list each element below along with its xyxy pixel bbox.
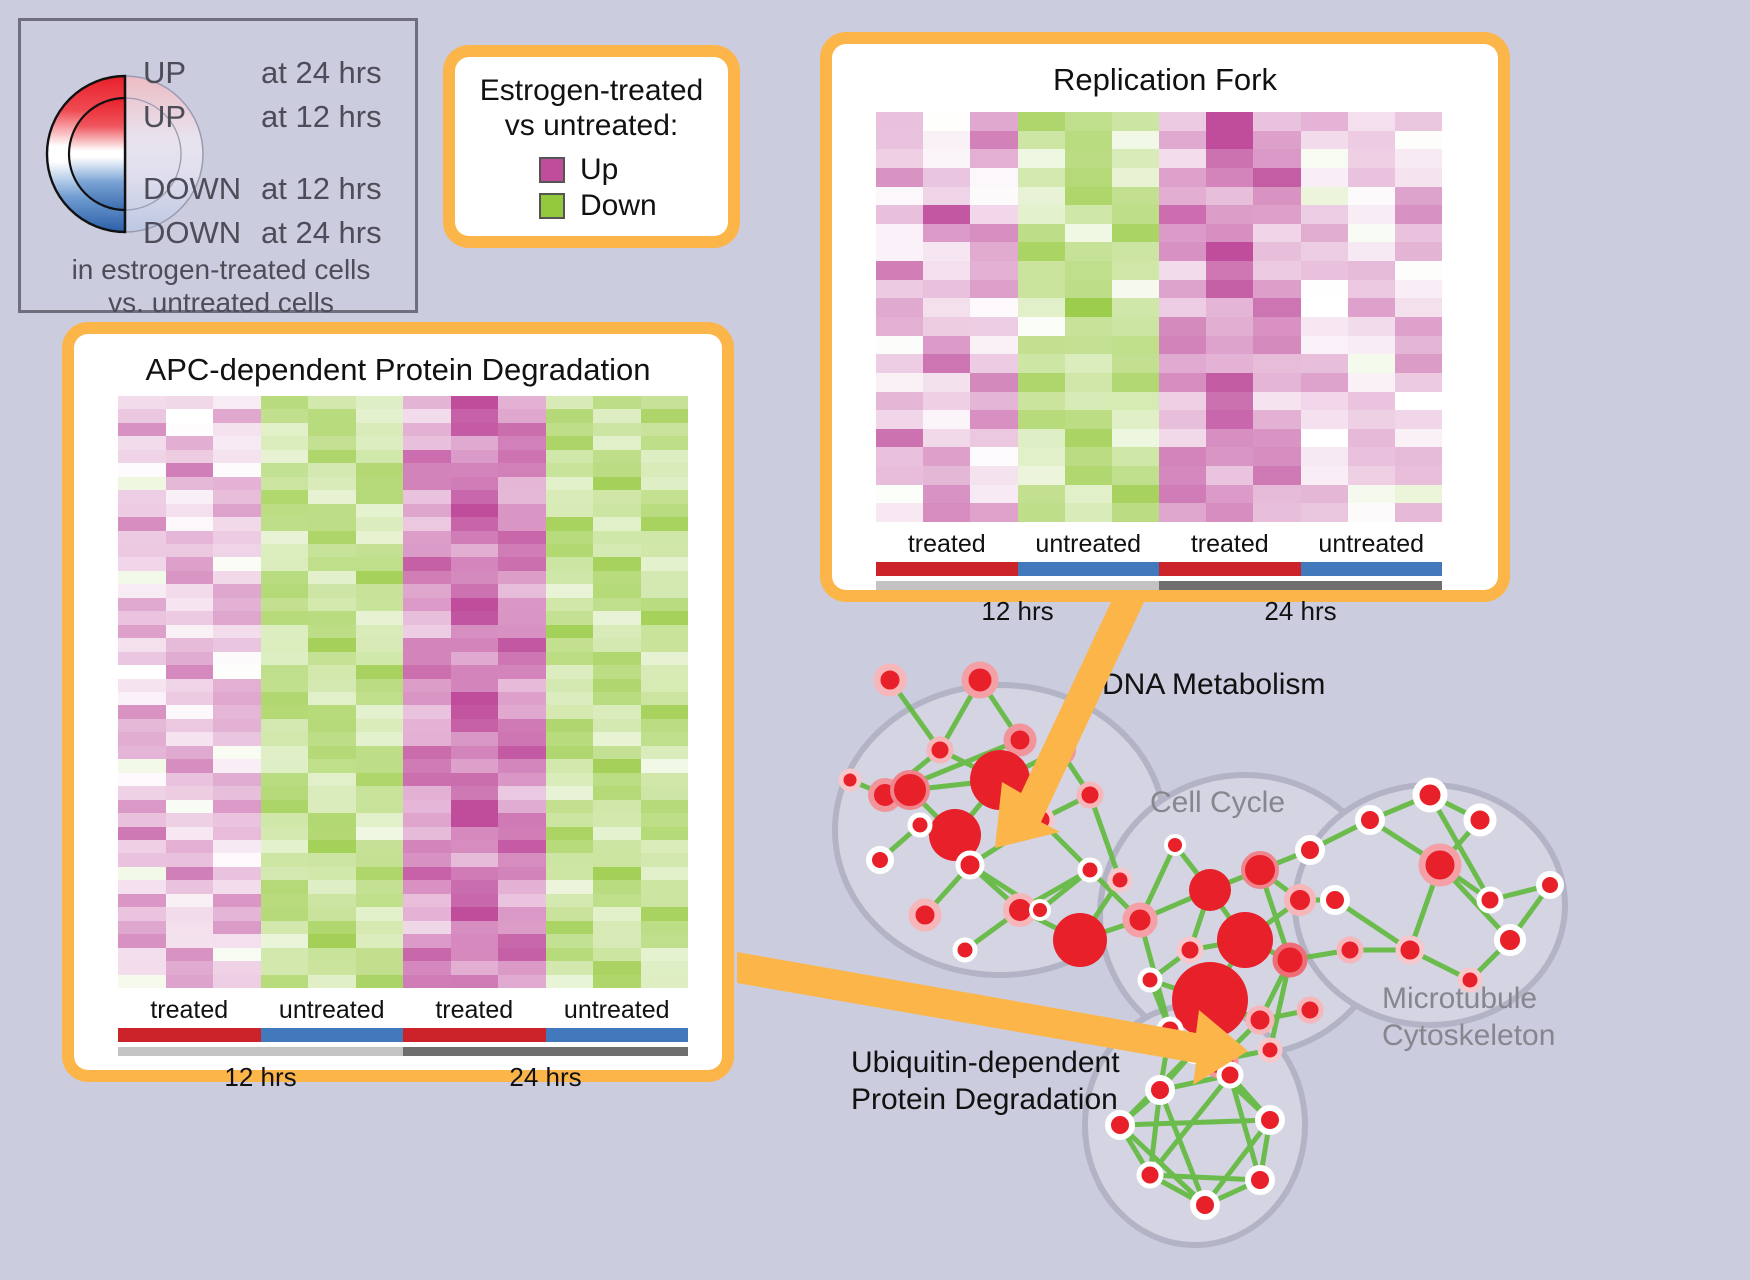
heatmap-cell bbox=[451, 557, 499, 570]
heatmap-cell bbox=[1065, 168, 1112, 187]
heatmap-cell bbox=[403, 396, 451, 409]
heatmap-cell bbox=[1348, 466, 1395, 485]
heatmap-cell bbox=[1253, 373, 1300, 392]
heatmap-cell bbox=[546, 719, 594, 732]
heatmap-cell bbox=[213, 746, 261, 759]
heatmap-cell bbox=[593, 786, 641, 799]
heatmap-cell bbox=[166, 773, 214, 786]
key-timepoint-label: at 12 hrs bbox=[261, 171, 382, 207]
heatmap-cell bbox=[1112, 317, 1159, 336]
heatmap-cell bbox=[118, 840, 166, 853]
heatmap-cell bbox=[546, 732, 594, 745]
heatmap-cell bbox=[641, 975, 689, 988]
heatmap-cell bbox=[593, 652, 641, 665]
heatmap-cell bbox=[213, 611, 261, 624]
heatmap-cell bbox=[641, 517, 689, 530]
heatmap-cell bbox=[1395, 354, 1442, 373]
heatmap-cell bbox=[1159, 336, 1206, 355]
group-label: untreated bbox=[546, 996, 689, 1025]
heatmap-cell bbox=[403, 517, 451, 530]
heatmap-cell bbox=[1018, 466, 1065, 485]
heatmap-cell bbox=[451, 800, 499, 813]
heatmap-cell bbox=[876, 466, 923, 485]
heatmap-cell bbox=[261, 975, 309, 988]
heatmap-cell bbox=[308, 800, 356, 813]
heatmap-cell bbox=[1018, 149, 1065, 168]
heatmap-cell bbox=[166, 705, 214, 718]
up-swatch-icon bbox=[539, 157, 565, 183]
heatmap-cell bbox=[498, 853, 546, 866]
heatmap-cell bbox=[1206, 466, 1253, 485]
heatmap-cell bbox=[1301, 503, 1348, 522]
key-spacer bbox=[143, 139, 418, 167]
heatmap-cell bbox=[1018, 261, 1065, 280]
heatmap-cell bbox=[546, 638, 594, 651]
heatmap-cell bbox=[970, 261, 1017, 280]
heatmap-cell bbox=[213, 827, 261, 840]
heatmap-cell bbox=[166, 409, 214, 422]
heatmap-cell bbox=[308, 638, 356, 651]
heatmap-cell bbox=[923, 503, 970, 522]
key-label-list: UP at 24 hrs UP at 12 hrs DOWN at 12 hrs… bbox=[143, 51, 418, 255]
heatmap-cell bbox=[970, 205, 1017, 224]
key-direction-label: UP bbox=[143, 55, 261, 91]
heatmap-cell bbox=[1159, 485, 1206, 504]
heatmap-cell bbox=[641, 598, 689, 611]
heatmap-cell bbox=[641, 894, 689, 907]
heatmap-cell bbox=[1301, 131, 1348, 150]
heatmap-cell bbox=[166, 921, 214, 934]
heatmap-cell bbox=[451, 746, 499, 759]
heatmap-cell bbox=[593, 598, 641, 611]
heatmap-cell bbox=[1348, 354, 1395, 373]
heatmap-cell bbox=[451, 921, 499, 934]
heatmap-cell bbox=[546, 571, 594, 584]
heatmap-cell bbox=[593, 961, 641, 974]
heatmap-cell bbox=[213, 692, 261, 705]
heatmap-cell bbox=[1348, 336, 1395, 355]
heatmap-cell bbox=[498, 679, 546, 692]
heatmap-cell bbox=[1112, 298, 1159, 317]
key-direction-label: UP bbox=[143, 99, 261, 135]
heatmap-cell bbox=[1206, 261, 1253, 280]
heatmap-cell bbox=[356, 853, 404, 866]
heatmap-cell bbox=[308, 584, 356, 597]
heatmap-cell bbox=[1065, 149, 1112, 168]
heatmap-cell bbox=[1112, 261, 1159, 280]
heatmap-cell bbox=[1018, 131, 1065, 150]
heatmap-cell bbox=[970, 392, 1017, 411]
heatmap-cell bbox=[1395, 447, 1442, 466]
heatmap-cell bbox=[593, 436, 641, 449]
group-label: treated bbox=[118, 996, 261, 1025]
heatmap-cell bbox=[1159, 298, 1206, 317]
heatmap-cell bbox=[593, 396, 641, 409]
heatmap-cell bbox=[308, 813, 356, 826]
heatmap-cell bbox=[261, 396, 309, 409]
heatmap-cell bbox=[166, 907, 214, 920]
heatmap-cell bbox=[356, 679, 404, 692]
heatmap-cell bbox=[118, 504, 166, 517]
heatmap-cell bbox=[498, 827, 546, 840]
heatmap-cell bbox=[118, 827, 166, 840]
heatmap-cell bbox=[593, 463, 641, 476]
heatmap-cell bbox=[166, 692, 214, 705]
heatmap-cell bbox=[593, 504, 641, 517]
heatmap-cell bbox=[166, 665, 214, 678]
heatmap-cell bbox=[356, 800, 404, 813]
heatmap-cell bbox=[308, 759, 356, 772]
heatmap-cell bbox=[546, 611, 594, 624]
heatmap-cell bbox=[261, 477, 309, 490]
heatmap-cell bbox=[166, 853, 214, 866]
replication-fork-title: Replication Fork bbox=[832, 44, 1498, 98]
apc-degradation-title: APC-dependent Protein Degradation bbox=[74, 334, 722, 388]
heatmap-cell bbox=[356, 531, 404, 544]
heatmap-cell bbox=[641, 786, 689, 799]
heatmap-cell bbox=[1301, 187, 1348, 206]
heatmap-cell bbox=[166, 598, 214, 611]
estrogen-legend-inner: Estrogen-treated vs untreated: Up Down bbox=[455, 57, 728, 236]
heatmap-cell bbox=[1348, 242, 1395, 261]
heatmap-cell bbox=[546, 961, 594, 974]
heatmap-cell bbox=[261, 611, 309, 624]
heatmap-cell bbox=[1206, 149, 1253, 168]
heatmap-cell bbox=[213, 759, 261, 772]
heatmap-cell bbox=[261, 948, 309, 961]
heatmap-cell bbox=[356, 880, 404, 893]
heatmap-cell bbox=[1253, 466, 1300, 485]
heatmap-cell bbox=[451, 732, 499, 745]
heatmap-cell bbox=[593, 571, 641, 584]
heatmap-cell bbox=[451, 665, 499, 678]
heatmap-cell bbox=[451, 692, 499, 705]
heatmap-cell bbox=[308, 423, 356, 436]
heatmap-cell bbox=[593, 773, 641, 786]
heatmap-cell bbox=[356, 840, 404, 853]
heatmap-cell bbox=[641, 557, 689, 570]
heatmap-cell bbox=[308, 786, 356, 799]
heatmap-cell bbox=[498, 436, 546, 449]
timepoint-bar-12 bbox=[876, 581, 1159, 590]
heatmap-cell bbox=[641, 827, 689, 840]
heatmap-cell bbox=[593, 423, 641, 436]
heatmap-cell bbox=[118, 948, 166, 961]
heatmap-cell bbox=[261, 732, 309, 745]
heatmap-cell bbox=[451, 517, 499, 530]
heatmap-cell bbox=[308, 625, 356, 638]
function-network-diagram bbox=[790, 620, 1750, 1280]
heatmap-cell bbox=[498, 611, 546, 624]
heatmap-cell bbox=[213, 517, 261, 530]
heatmap-cell bbox=[451, 880, 499, 893]
heatmap-cell bbox=[1301, 168, 1348, 187]
heatmap-cell bbox=[641, 773, 689, 786]
heatmap-cell bbox=[1065, 317, 1112, 336]
heatmap-cell bbox=[118, 800, 166, 813]
heatmap-cell bbox=[593, 719, 641, 732]
heatmap-cell bbox=[308, 746, 356, 759]
heatmap-cell bbox=[308, 705, 356, 718]
heatmap-cell bbox=[923, 466, 970, 485]
heatmap-cell bbox=[308, 840, 356, 853]
heatmap-cell bbox=[356, 490, 404, 503]
heatmap-cell bbox=[1018, 392, 1065, 411]
heatmap-cell bbox=[118, 692, 166, 705]
heatmap-cell bbox=[118, 531, 166, 544]
heatmap-cell bbox=[1065, 392, 1112, 411]
heatmap-cell bbox=[923, 280, 970, 299]
heatmap-cell bbox=[451, 773, 499, 786]
heatmap-cell bbox=[1065, 447, 1112, 466]
heatmap-cell bbox=[1112, 410, 1159, 429]
heatmap-cell bbox=[1395, 336, 1442, 355]
label-microtubule: Microtubule bbox=[1382, 981, 1537, 1017]
heatmap-cell bbox=[1301, 447, 1348, 466]
heatmap-cell bbox=[970, 168, 1017, 187]
heatmap-cell bbox=[356, 692, 404, 705]
heatmap-cell bbox=[593, 679, 641, 692]
heatmap-cell bbox=[308, 853, 356, 866]
heatmap-cell bbox=[118, 894, 166, 907]
heatmap-cell bbox=[356, 436, 404, 449]
heatmap-cell bbox=[1253, 131, 1300, 150]
heatmap-cell bbox=[118, 598, 166, 611]
heatmap-cell bbox=[641, 719, 689, 732]
heatmap-cell bbox=[261, 517, 309, 530]
replication-fork-heatmap bbox=[876, 112, 1442, 522]
group-label: untreated bbox=[261, 996, 404, 1025]
heatmap-cell bbox=[641, 732, 689, 745]
heatmap-cell bbox=[451, 840, 499, 853]
heatmap-cell bbox=[213, 853, 261, 866]
heatmap-cell bbox=[1018, 336, 1065, 355]
heatmap-cell bbox=[1253, 187, 1300, 206]
treated-bar-24 bbox=[403, 1028, 546, 1042]
heatmap-cell bbox=[923, 373, 970, 392]
heatmap-cell bbox=[166, 746, 214, 759]
heatmap-cell bbox=[356, 921, 404, 934]
heatmap-cell bbox=[641, 867, 689, 880]
heatmap-cell bbox=[498, 463, 546, 476]
heatmap-cell bbox=[593, 692, 641, 705]
heatmap-cell bbox=[261, 759, 309, 772]
heatmap-cell bbox=[970, 373, 1017, 392]
untreated-bar-12 bbox=[1018, 562, 1160, 576]
heatmap-cell bbox=[403, 598, 451, 611]
heatmap-cell bbox=[166, 786, 214, 799]
estrogen-legend-panel: Estrogen-treated vs untreated: Up Down bbox=[443, 45, 740, 248]
heatmap-cell bbox=[1018, 224, 1065, 243]
heatmap-cell bbox=[166, 759, 214, 772]
heatmap-cell bbox=[356, 759, 404, 772]
heatmap-cell bbox=[118, 638, 166, 651]
heatmap-cell bbox=[1253, 392, 1300, 411]
heatmap-cell bbox=[546, 584, 594, 597]
heatmap-cell bbox=[118, 571, 166, 584]
heatmap-cell bbox=[970, 466, 1017, 485]
key-timepoint-label: at 24 hrs bbox=[261, 215, 382, 251]
heatmap-cell bbox=[498, 557, 546, 570]
heatmap-cell bbox=[546, 436, 594, 449]
group-label: treated bbox=[403, 996, 546, 1025]
heatmap-cell bbox=[213, 840, 261, 853]
heatmap-cell bbox=[1206, 447, 1253, 466]
heatmap-cell bbox=[876, 168, 923, 187]
heatmap-cell bbox=[546, 463, 594, 476]
heatmap-cell bbox=[1253, 261, 1300, 280]
heatmap-cell bbox=[118, 880, 166, 893]
heatmap-cell bbox=[641, 531, 689, 544]
heatmap-cell bbox=[308, 450, 356, 463]
heatmap-cell bbox=[261, 692, 309, 705]
heatmap-cell bbox=[593, 705, 641, 718]
heatmap-cell bbox=[498, 961, 546, 974]
untreated-bar-24 bbox=[1301, 562, 1443, 576]
heatmap-cell bbox=[451, 975, 499, 988]
heatmap-cell bbox=[498, 409, 546, 422]
heatmap-cell bbox=[923, 261, 970, 280]
heatmap-cell bbox=[308, 490, 356, 503]
heatmap-cell bbox=[1065, 466, 1112, 485]
heatmap-cell bbox=[213, 490, 261, 503]
heatmap-cell bbox=[1206, 373, 1253, 392]
heatmap-cell bbox=[451, 584, 499, 597]
heatmap-cell bbox=[261, 679, 309, 692]
heatmap-cell bbox=[308, 907, 356, 920]
heatmap-cell bbox=[1348, 149, 1395, 168]
heatmap-cell bbox=[1395, 205, 1442, 224]
heatmap-cell bbox=[308, 827, 356, 840]
heatmap-cell bbox=[1301, 429, 1348, 448]
heatmap-cell bbox=[118, 961, 166, 974]
heatmap-cell bbox=[1112, 168, 1159, 187]
heatmap-cell bbox=[1065, 298, 1112, 317]
heatmap-cell bbox=[498, 531, 546, 544]
heatmap-cell bbox=[498, 652, 546, 665]
heatmap-cell bbox=[356, 611, 404, 624]
treated-bar-24 bbox=[1159, 562, 1301, 576]
heatmap-cell bbox=[356, 948, 404, 961]
heatmap-cell bbox=[213, 557, 261, 570]
heatmap-cell bbox=[1112, 149, 1159, 168]
heatmap-cell bbox=[261, 450, 309, 463]
heatmap-cell bbox=[498, 665, 546, 678]
untreated-bar-12 bbox=[261, 1028, 404, 1042]
label-ubiquitin-line-2: Protein Degradation bbox=[851, 1082, 1118, 1118]
heatmap-cell bbox=[546, 557, 594, 570]
heatmap-cell bbox=[1018, 112, 1065, 131]
heatmap-cell bbox=[1348, 187, 1395, 206]
heatmap-cell bbox=[970, 336, 1017, 355]
heatmap-cell bbox=[213, 544, 261, 557]
heatmap-cell bbox=[1065, 280, 1112, 299]
heatmap-cell bbox=[1395, 466, 1442, 485]
heatmap-cell bbox=[641, 840, 689, 853]
heatmap-cell bbox=[213, 450, 261, 463]
heatmap-cell bbox=[213, 463, 261, 476]
heatmap-cell bbox=[1112, 131, 1159, 150]
heatmap-cell bbox=[451, 827, 499, 840]
heatmap-cell bbox=[261, 504, 309, 517]
heatmap-cell bbox=[593, 557, 641, 570]
heatmap-cell bbox=[1159, 503, 1206, 522]
key-footer: in estrogen-treated cells vs. untreated … bbox=[21, 253, 421, 319]
heatmap-cell bbox=[1395, 187, 1442, 206]
heatmap-cell bbox=[118, 907, 166, 920]
heatmap-cell bbox=[356, 557, 404, 570]
heatmap-cell bbox=[403, 880, 451, 893]
heatmap-cell bbox=[166, 975, 214, 988]
heatmap-cell bbox=[876, 485, 923, 504]
heatmap-cell bbox=[546, 786, 594, 799]
heatmap-cell bbox=[641, 490, 689, 503]
heatmap-cell bbox=[1206, 410, 1253, 429]
heatmap-cell bbox=[593, 450, 641, 463]
heatmap-cell bbox=[498, 880, 546, 893]
heatmap-cell bbox=[403, 867, 451, 880]
heatmap-cell bbox=[261, 786, 309, 799]
heatmap-cell bbox=[308, 961, 356, 974]
legend-title-line-2: vs untreated: bbox=[455, 109, 728, 144]
heatmap-cell bbox=[356, 504, 404, 517]
heatmap-cell bbox=[403, 934, 451, 947]
heatmap-cell bbox=[118, 477, 166, 490]
heatmap-cell bbox=[1395, 503, 1442, 522]
heatmap-cell bbox=[498, 934, 546, 947]
heatmap-cell bbox=[1301, 261, 1348, 280]
heatmap-cell bbox=[1395, 410, 1442, 429]
heatmap-cell bbox=[1301, 354, 1348, 373]
heatmap-cell bbox=[923, 112, 970, 131]
heatmap-cell bbox=[593, 934, 641, 947]
heatmap-cell bbox=[213, 571, 261, 584]
heatmap-cell bbox=[641, 705, 689, 718]
heatmap-cell bbox=[593, 625, 641, 638]
heatmap-cell bbox=[261, 719, 309, 732]
heatmap-cell bbox=[308, 880, 356, 893]
heatmap-cell bbox=[1253, 485, 1300, 504]
heatmap-cell bbox=[1065, 373, 1112, 392]
heatmap-cell bbox=[1206, 392, 1253, 411]
heatmap-cell bbox=[923, 410, 970, 429]
heatmap-cell bbox=[118, 557, 166, 570]
heatmap-cell bbox=[213, 880, 261, 893]
timepoint-label-row: 12 hrs 24 hrs bbox=[118, 1062, 688, 1093]
heatmap-cell bbox=[1301, 242, 1348, 261]
heatmap-cell bbox=[1206, 131, 1253, 150]
heatmap-cell bbox=[356, 625, 404, 638]
heatmap-cell bbox=[1206, 317, 1253, 336]
heatmap-cell bbox=[1206, 112, 1253, 131]
heatmap-cell bbox=[593, 611, 641, 624]
heatmap-cell bbox=[498, 975, 546, 988]
heatmap-cell bbox=[970, 410, 1017, 429]
heatmap-cell bbox=[261, 665, 309, 678]
heatmap-cell bbox=[1253, 298, 1300, 317]
heatmap-cell bbox=[1065, 503, 1112, 522]
heatmap-cell bbox=[546, 625, 594, 638]
heatmap-cell bbox=[593, 948, 641, 961]
heatmap-cell bbox=[970, 354, 1017, 373]
heatmap-cell bbox=[546, 423, 594, 436]
legend-item-down: Down bbox=[539, 188, 728, 224]
heatmap-cell bbox=[876, 373, 923, 392]
heatmap-cell bbox=[261, 746, 309, 759]
heatmap-cell bbox=[261, 827, 309, 840]
heatmap-cell bbox=[1018, 485, 1065, 504]
heatmap-cell bbox=[1206, 187, 1253, 206]
